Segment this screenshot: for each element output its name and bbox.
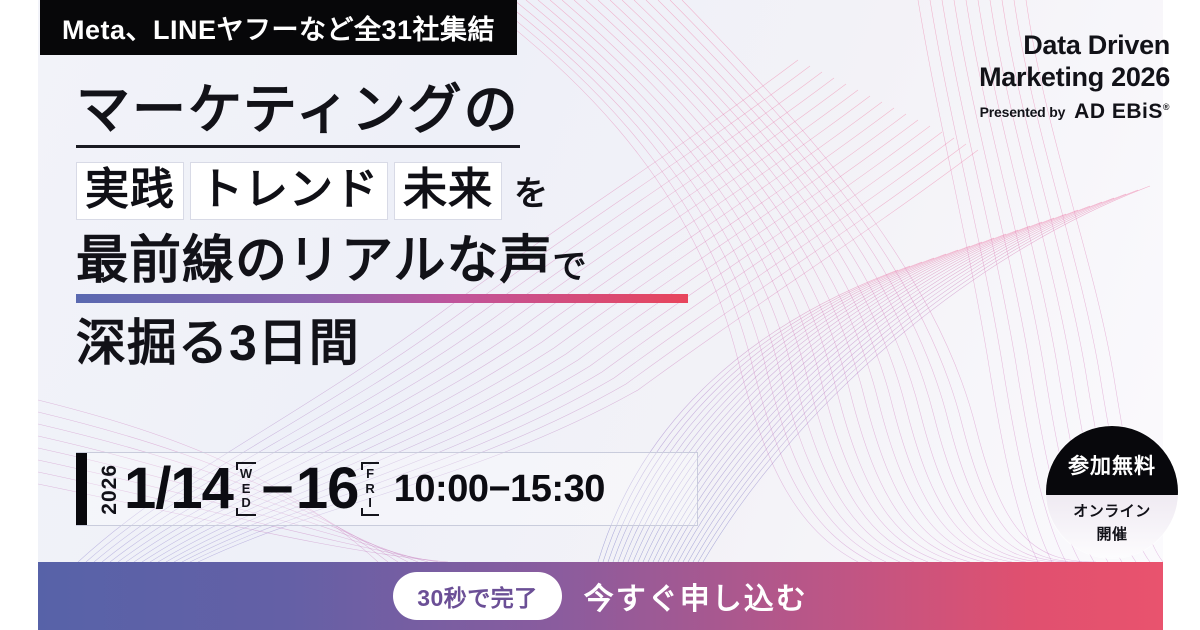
dow-letter: R [365,482,374,497]
date-accent-bar [76,453,87,525]
event-date-bar: 2026 1/14 W E D − 16 F R I 10:00−15:30 [76,452,698,526]
cta-pill-badge: 30秒で完了 [393,572,562,620]
logo-line-1: Data Driven [979,30,1170,62]
event-end-dow: F R I [361,462,378,516]
dow-letter: I [368,496,372,511]
headline-line-1: マーケティングの [76,82,520,148]
keyword-chip-practice: 実践 [76,162,184,220]
headline-line-3-tail: で [552,250,587,286]
keyword-chip-trend: トレンド [190,162,388,220]
headline-line-4: 深掘る3日間 [76,317,688,370]
event-logo-block: Data Driven Marketing 2026 Presented by … [979,30,1170,124]
headline-line-2-tail: を [514,166,548,215]
headline-line-3: 最前線のリアルな声 で [76,234,688,289]
headline-gradient-underline [76,294,688,303]
dow-letter: F [366,467,374,482]
eyebrow-label: Meta、LINEヤフーなど全31社集結 [40,0,517,55]
badge-held-label: 開催 [1096,523,1127,544]
headline-keywords-row: 実践 トレンド 未来 を [76,162,688,220]
dow-letter: D [241,496,250,511]
brand-name: AD EBiS [1074,100,1163,123]
presented-by-label: Presented by [980,104,1066,120]
registered-mark: ® [1163,102,1170,112]
cta-bar[interactable]: 30秒で完了 今すぐ申し込む [38,562,1163,630]
event-start-dow: W E D [236,462,256,516]
date-range-dash: − [261,461,294,517]
date-content: 2026 1/14 W E D − 16 F R I 10:00−15:30 [87,460,605,518]
headline-block: マーケティングの 実践 トレンド 未来 を 最前線のリアルな声 で 深掘る3日間 [76,82,688,370]
headline-line-1-row: マーケティングの [76,82,688,148]
headline-line-3-main: 最前線のリアルな声 [76,234,552,289]
event-start-day: 1/14 [124,460,233,518]
presented-by-row: Presented by AD EBiS® [979,100,1170,124]
dow-letter: W [240,467,252,482]
eyebrow-text: Meta、LINEヤフーなど全31社集結 [62,8,495,47]
event-year: 2026 [99,464,120,515]
banner-canvas: Meta、LINEヤフーなど全31社集結 マーケティングの 実践 トレンド 未来… [0,0,1200,630]
keyword-chip-future: 未来 [394,162,502,220]
logo-line-2: Marketing 2026 [979,62,1170,94]
event-time: 10:00−15:30 [394,470,605,508]
event-end-day: 16 [296,460,359,518]
badge-online-label: オンライン [1073,500,1151,521]
dow-letter: E [242,482,251,497]
adebis-brand-logo: AD EBiS® [1074,100,1170,124]
free-online-badge: 参加無料 オンライン 開催 [1046,426,1178,558]
cta-apply-label: 今すぐ申し込む [584,574,808,618]
